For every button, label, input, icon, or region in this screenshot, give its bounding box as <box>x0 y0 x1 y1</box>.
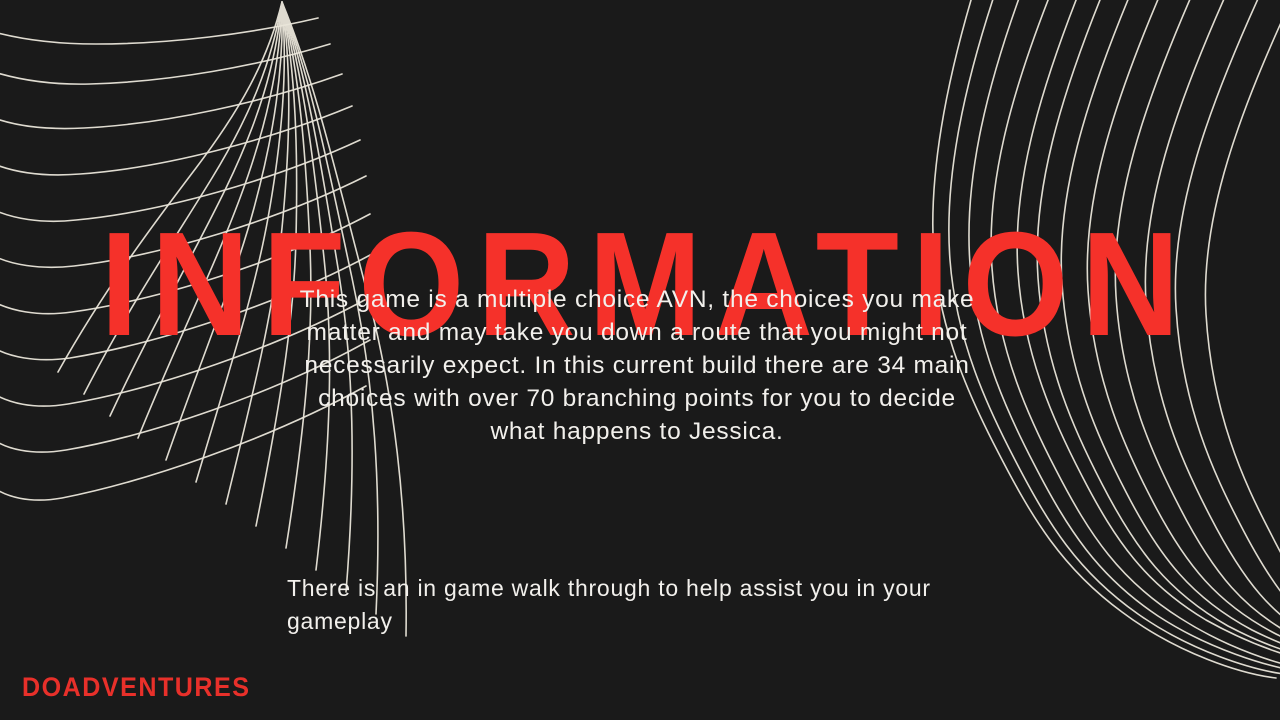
brand-logo-text: DOADVENTURES <box>22 672 251 702</box>
paragraph-primary: This game is a multiple choice AVN, the … <box>287 283 987 448</box>
information-slide: INFORMATION This game is a multiple choi… <box>0 0 1280 720</box>
body-copy-block: This game is a multiple choice AVN, the … <box>287 283 987 448</box>
paragraph-secondary: There is an in game walk through to help… <box>287 572 987 638</box>
